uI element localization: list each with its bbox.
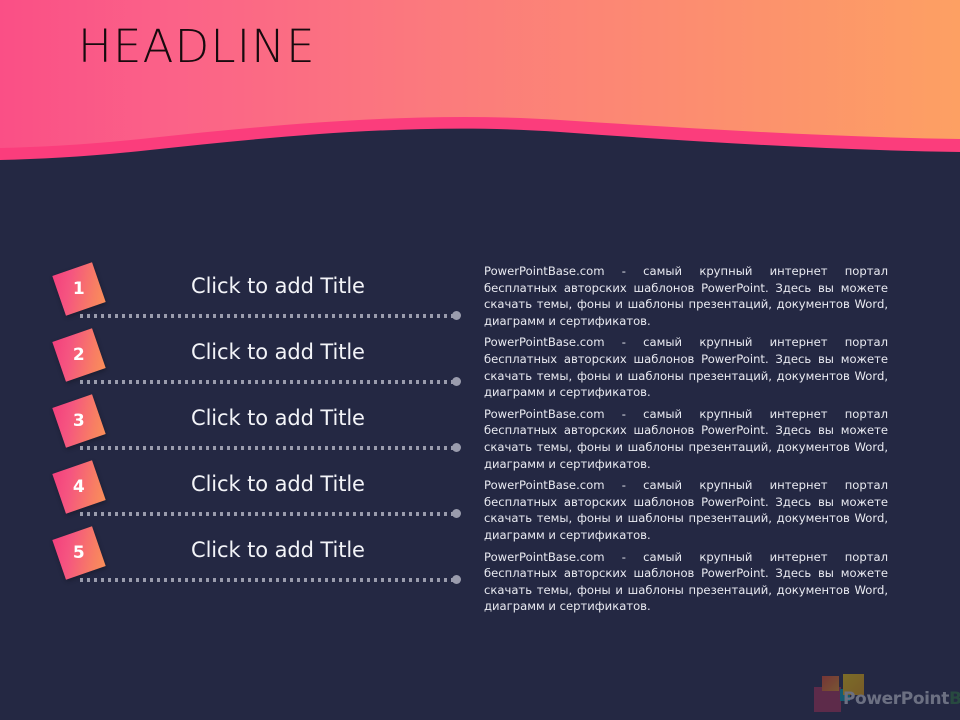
step-number-badge: 1	[52, 262, 105, 315]
body-paragraph[interactable]: PowerPointBase.com - самый крупный интер…	[484, 263, 888, 329]
step-number-label: 4	[58, 466, 100, 508]
step-number-badge: 3	[52, 394, 105, 447]
dotted-rule-end-dot	[452, 377, 461, 386]
logo-text-secondary: Base	[949, 689, 960, 709]
step-number-label: 5	[58, 532, 100, 574]
step-number-label: 3	[58, 400, 100, 442]
logo-square-orange-icon	[822, 676, 839, 691]
body-paragraph[interactable]: PowerPointBase.com - самый крупный интер…	[484, 406, 888, 472]
step-title[interactable]: Click to add Title	[191, 340, 365, 364]
step-title[interactable]: Click to add Title	[191, 472, 365, 496]
dotted-rule	[80, 578, 453, 582]
dotted-rule-end-dot	[452, 311, 461, 320]
list-item[interactable]: 1 Click to add Title	[0, 264, 480, 330]
step-title[interactable]: Click to add Title	[191, 274, 365, 298]
step-number-label: 1	[58, 268, 100, 310]
slide-canvas: HEADLINE 1 Click to add Title 2 Click to…	[0, 0, 960, 720]
list-item[interactable]: 5 Click to add Title	[0, 528, 480, 594]
dotted-rule-end-dot	[452, 509, 461, 518]
body-paragraph[interactable]: PowerPointBase.com - самый крупный интер…	[484, 549, 888, 615]
step-number-label: 2	[58, 334, 100, 376]
step-number-badge: 2	[52, 328, 105, 381]
body-text-column: PowerPointBase.com - самый крупный интер…	[484, 263, 888, 615]
step-number-badge: 5	[52, 526, 105, 579]
step-title[interactable]: Click to add Title	[191, 538, 365, 562]
dotted-rule	[80, 512, 453, 516]
list-item[interactable]: 2 Click to add Title	[0, 330, 480, 396]
logo-text-primary: PowerPoint	[843, 689, 949, 709]
steps-list: 1 Click to add Title 2 Click to add Titl…	[0, 0, 480, 720]
step-title[interactable]: Click to add Title	[191, 406, 365, 430]
list-item[interactable]: 3 Click to add Title	[0, 396, 480, 462]
logo-wordmark: PowerPointBase	[843, 689, 960, 709]
body-paragraph[interactable]: PowerPointBase.com - самый крупный интер…	[484, 477, 888, 543]
dotted-rule-end-dot	[452, 575, 461, 584]
list-item[interactable]: 4 Click to add Title	[0, 462, 480, 528]
dotted-rule	[80, 314, 453, 318]
body-paragraph[interactable]: PowerPointBase.com - самый крупный интер…	[484, 334, 888, 400]
dotted-rule-end-dot	[452, 443, 461, 452]
step-number-badge: 4	[52, 460, 105, 513]
dotted-rule	[80, 380, 453, 384]
dotted-rule	[80, 446, 453, 450]
powerpointbase-logo: PowerPointBase	[812, 674, 952, 712]
